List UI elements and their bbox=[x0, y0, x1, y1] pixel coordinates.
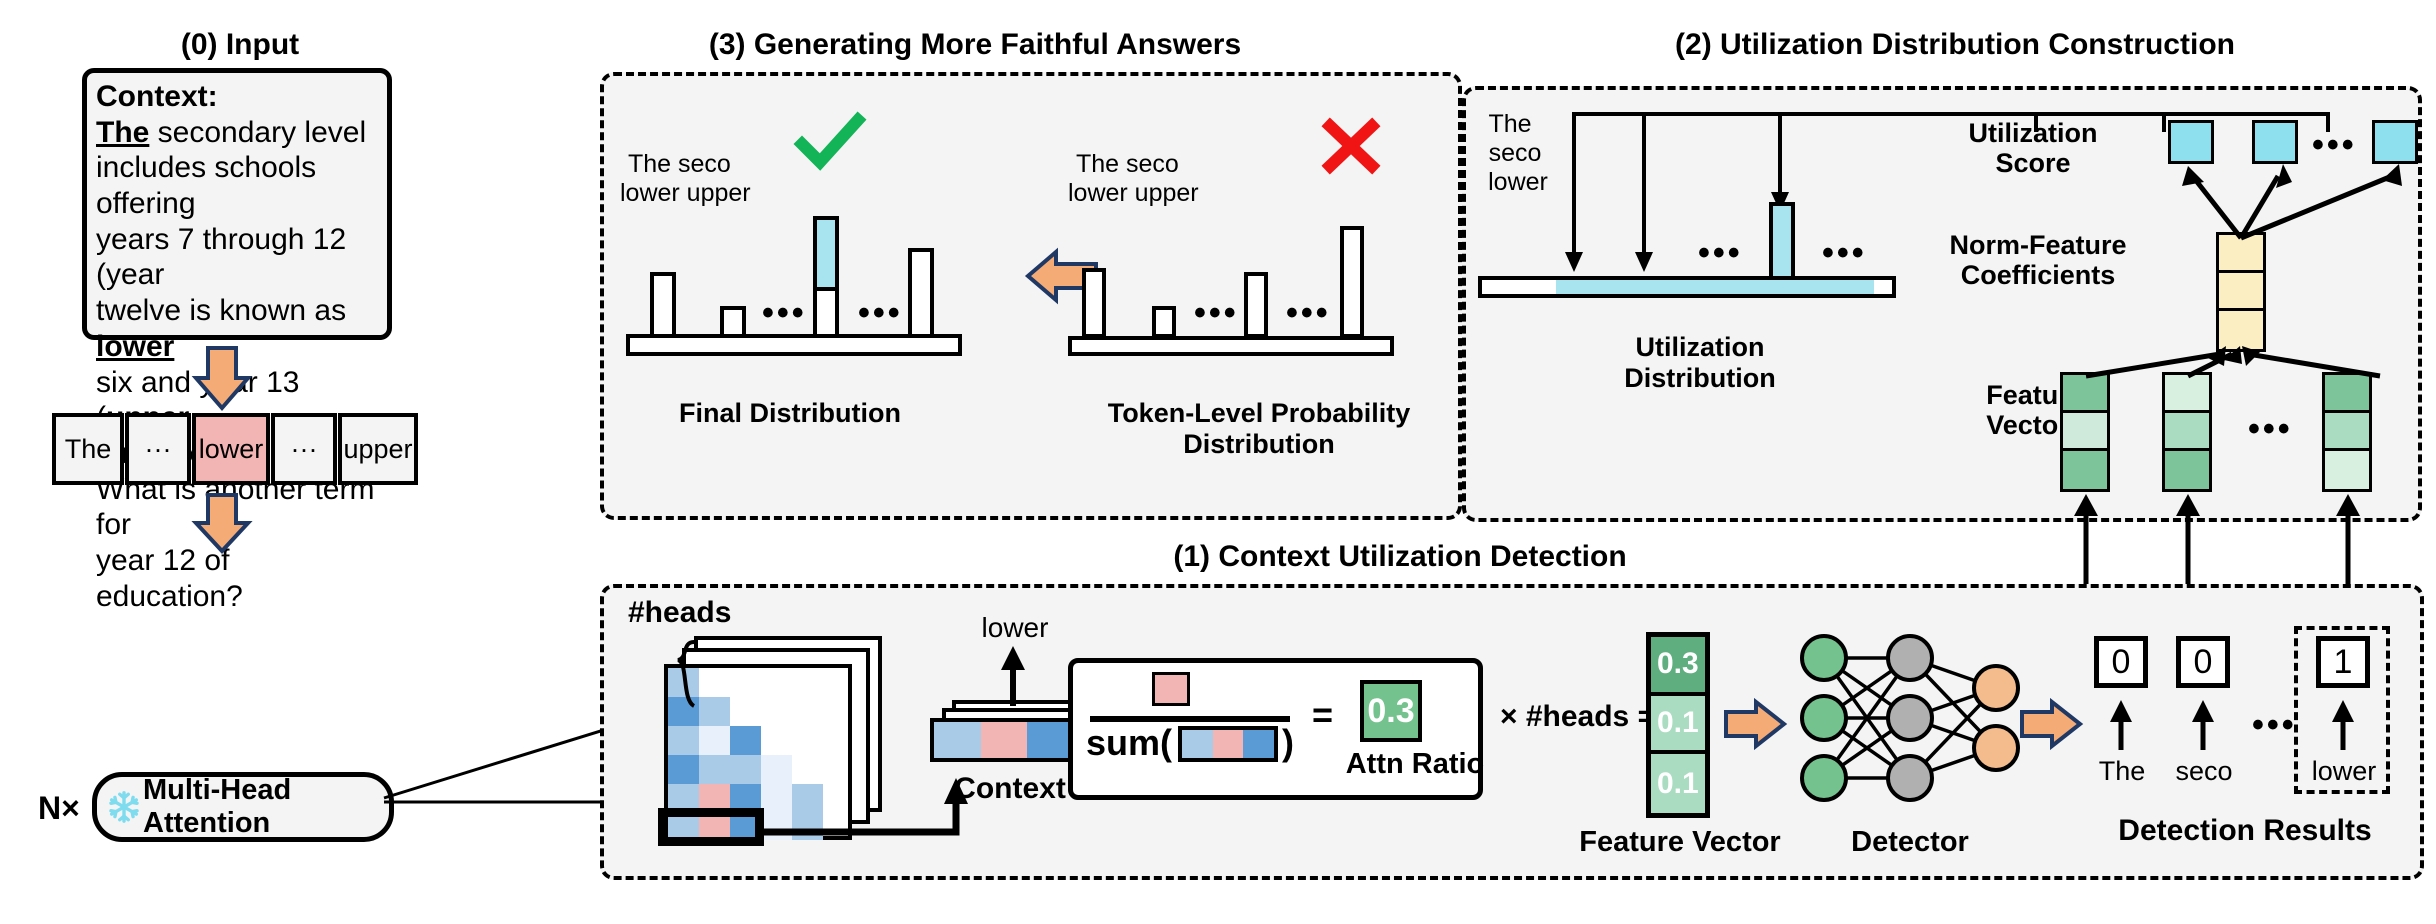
utilization-distribution-chart: ••• ••• The seco lower bbox=[1470, 110, 1920, 320]
context-label: Context: bbox=[96, 79, 378, 115]
heads-brace-icon bbox=[668, 640, 702, 710]
detection-token: seco bbox=[2158, 756, 2250, 787]
times-heads-label: × #heads = bbox=[1500, 700, 1655, 734]
selected-row-outline bbox=[658, 808, 764, 846]
chart-tick-labels: lower upper bbox=[1068, 179, 1278, 208]
chart-tick-labels: lower upper bbox=[620, 179, 830, 208]
bar bbox=[1152, 306, 1176, 338]
chart-ellipsis: ••• bbox=[858, 296, 903, 330]
result-up-arrow bbox=[2190, 700, 2216, 752]
chart-tick-label: lower bbox=[1470, 168, 1566, 197]
chart-baseline bbox=[626, 334, 962, 356]
context-label: Context bbox=[930, 772, 1090, 806]
detection-value: 0 bbox=[2194, 643, 2213, 682]
sum-open-label: sum( bbox=[1086, 722, 1172, 764]
chart-baseline bbox=[1068, 336, 1394, 356]
n-times-label: N× bbox=[38, 790, 80, 827]
feature-value: 0.1 bbox=[1657, 767, 1699, 801]
chart-tick-label: The bbox=[1470, 110, 1550, 139]
arrow-input-to-tokens bbox=[196, 348, 256, 410]
chart-ellipsis: ••• bbox=[1194, 296, 1239, 330]
feature-vector-column bbox=[2162, 372, 2212, 492]
check-mark-icon bbox=[796, 116, 866, 172]
token-cell[interactable]: The bbox=[52, 413, 124, 485]
detection-value: 0 bbox=[2112, 643, 2131, 682]
feature-vector-column bbox=[2322, 372, 2372, 492]
detection-ellipsis: ••• bbox=[2252, 708, 2297, 742]
detection-results-label: Detection Results bbox=[2090, 814, 2400, 848]
arrows-features-to-coeff bbox=[2060, 344, 2390, 384]
token-label: ··· bbox=[145, 434, 172, 465]
detection-token: lower bbox=[2296, 756, 2392, 787]
detection-result: 0 bbox=[2094, 636, 2148, 688]
chart-ellipsis: ••• bbox=[1698, 236, 1743, 270]
utilization-score-label: Utilization Score bbox=[1918, 118, 2148, 178]
context-top-token: lower bbox=[960, 612, 1070, 644]
attn-ratio-value: 0.3 bbox=[1367, 692, 1414, 731]
section-1-title: (1) Context Utilization Detection bbox=[1020, 540, 1780, 574]
cross-mark-icon bbox=[1322, 118, 1384, 174]
arrow-detector-to-results bbox=[2020, 700, 2084, 748]
context-line: The secondary level bbox=[96, 115, 378, 151]
question-line: year 12 of education? bbox=[96, 543, 378, 614]
token-label: lower bbox=[199, 434, 264, 465]
input-panel: Context: The secondary levelincludes sch… bbox=[82, 68, 392, 340]
feature-vectors-ellipsis: ••• bbox=[2248, 412, 2293, 446]
result-up-arrow bbox=[2108, 700, 2134, 752]
snowflake-icon bbox=[107, 790, 141, 824]
feature-vector-box: 0.3 0.1 0.1 bbox=[1646, 632, 1710, 818]
bar bbox=[1244, 272, 1268, 338]
equals-label: = bbox=[1312, 694, 1333, 736]
section-0-title: (0) Input bbox=[100, 28, 380, 62]
chart-tick-labels: The seco bbox=[620, 150, 788, 179]
token-level-chart: ••• ••• The seco lower upper bbox=[1068, 150, 1468, 380]
token-label: ··· bbox=[291, 434, 318, 465]
chart-ellipsis: ••• bbox=[1286, 296, 1331, 330]
bar bbox=[908, 248, 934, 338]
section-3-title: (3) Generating More Faithful Answers bbox=[610, 28, 1340, 62]
heads-label: #heads bbox=[628, 596, 731, 630]
final-distribution-title: Final Distribution bbox=[660, 398, 920, 428]
result-up-arrow bbox=[2330, 700, 2356, 752]
sum-close-label: ) bbox=[1282, 722, 1294, 764]
context-up-arrow bbox=[1000, 646, 1026, 708]
token-cell[interactable]: ··· bbox=[125, 413, 191, 485]
arrows-coeff-to-scores bbox=[2120, 150, 2436, 250]
sum-vector bbox=[1178, 726, 1278, 762]
multi-head-attention-label: Multi-Head Attention bbox=[143, 774, 389, 840]
bar bbox=[1340, 226, 1364, 338]
chart-tick-labels: The seco bbox=[1068, 150, 1236, 179]
arrow-features-to-detector bbox=[1724, 700, 1788, 748]
token-strip: The ··· lower ··· upper bbox=[52, 413, 382, 487]
utilization-distribution-title: Utilization Distribution bbox=[1560, 332, 1840, 394]
detection-token: The bbox=[2080, 756, 2164, 787]
chart-ellipsis: ••• bbox=[762, 296, 807, 330]
baseline-fill bbox=[1556, 280, 1874, 294]
bar bbox=[650, 272, 676, 338]
attn-ratio-label: Attn Ratio bbox=[1330, 748, 1500, 780]
norm-feature-coefficient-vector bbox=[2216, 232, 2266, 352]
bar bbox=[1082, 268, 1106, 338]
bar-highlight bbox=[813, 216, 839, 338]
chart-tick-label: seco bbox=[1470, 139, 1560, 168]
bar-utilization bbox=[1769, 202, 1795, 280]
attn-ratio-numerator-cell bbox=[1152, 672, 1190, 706]
detection-value: 1 bbox=[2334, 643, 2353, 682]
context-line: years 7 through 12 (year bbox=[96, 222, 378, 293]
feature-value: 0.3 bbox=[1657, 647, 1699, 681]
final-distribution-chart: ••• ••• The seco lower upper bbox=[620, 150, 1020, 380]
token-cell-highlight[interactable]: lower bbox=[192, 413, 270, 485]
multi-head-attention-block[interactable]: Multi-Head Attention bbox=[92, 772, 394, 842]
detection-result: 0 bbox=[2176, 636, 2230, 688]
attn-ratio-value-box: 0.3 bbox=[1360, 680, 1422, 742]
feature-vectors-label: Feature Vectors bbox=[1920, 380, 2150, 440]
detector-label: Detector bbox=[1830, 826, 1990, 858]
detection-result: 1 bbox=[2316, 636, 2370, 688]
token-label: upper bbox=[343, 434, 412, 465]
context-line: includes schools offering bbox=[96, 150, 378, 221]
section-2-title: (2) Utilization Distribution Constructio… bbox=[1510, 28, 2400, 62]
chart-ellipsis: ••• bbox=[1822, 236, 1867, 270]
feature-vector-label: Feature Vector bbox=[1570, 826, 1790, 858]
token-cell[interactable]: upper bbox=[338, 413, 418, 485]
token-cell[interactable]: ··· bbox=[271, 413, 337, 485]
detector-network bbox=[1792, 630, 2022, 818]
arrow-tokens-to-attention bbox=[196, 495, 256, 553]
token-level-title: Token-Level Probability Distribution bbox=[1064, 398, 1454, 460]
feature-value: 0.1 bbox=[1657, 706, 1699, 740]
feature-vector-column bbox=[2060, 372, 2110, 492]
token-label: The bbox=[65, 434, 112, 465]
